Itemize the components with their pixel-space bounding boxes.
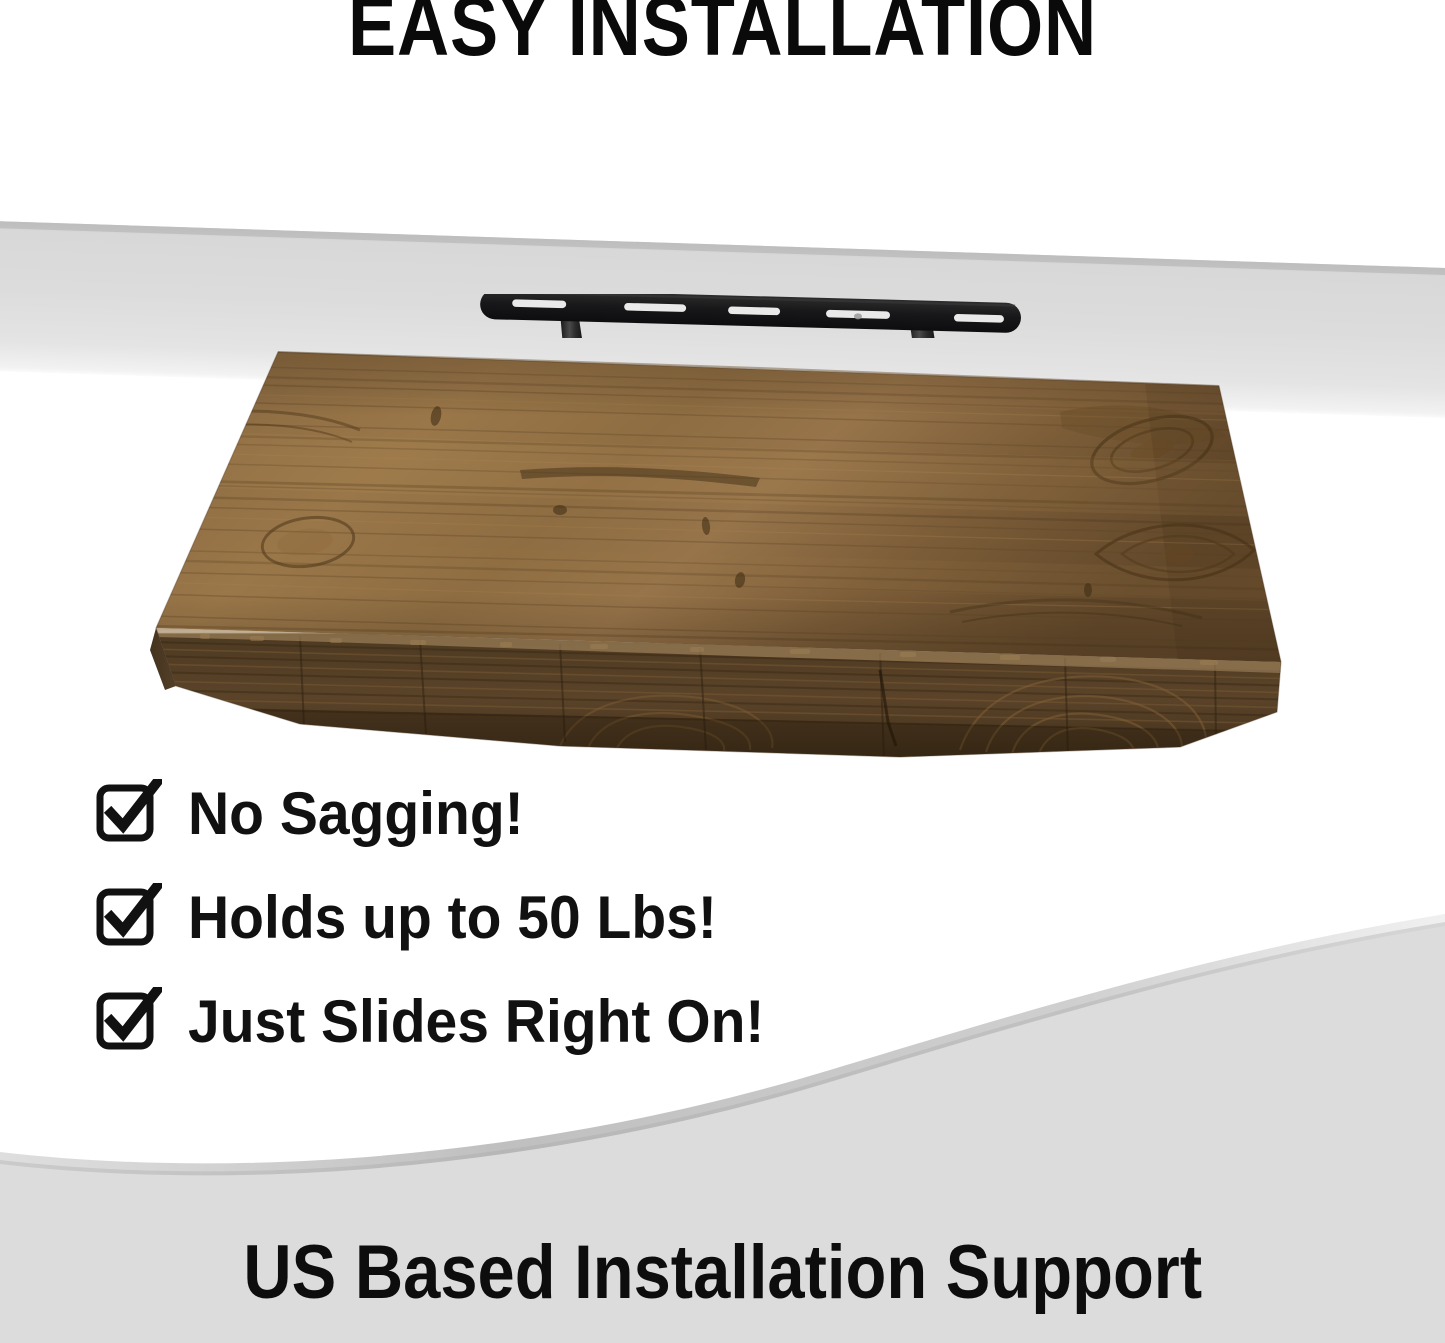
list-item: Just Slides Right On! [96,970,996,1074]
shelf-top-face [140,340,1310,680]
checkbox-checked-icon [96,883,162,949]
checkbox-checked-icon [96,779,162,845]
list-item: No Sagging! [96,762,996,866]
headline-banner: EASY INSTALLATION [0,0,1445,84]
feature-list: No Sagging! Holds up to 50 Lbs! Just Sli… [96,762,996,1074]
product-photo [0,150,1445,790]
footer-text: US Based Installation Support [243,1233,1202,1313]
page-title: EASY INSTALLATION [101,0,1344,68]
product-infographic: EASY INSTALLATION [0,0,1445,1343]
list-item: Holds up to 50 Lbs! [96,866,996,970]
checkbox-checked-icon [96,987,162,1053]
list-item-label: Just Slides Right On! [188,991,764,1053]
footer: US Based Installation Support [0,1218,1445,1328]
list-item-label: Holds up to 50 Lbs! [188,887,717,949]
list-item-label: No Sagging! [188,783,524,845]
wooden-floating-shelf [0,150,1445,790]
